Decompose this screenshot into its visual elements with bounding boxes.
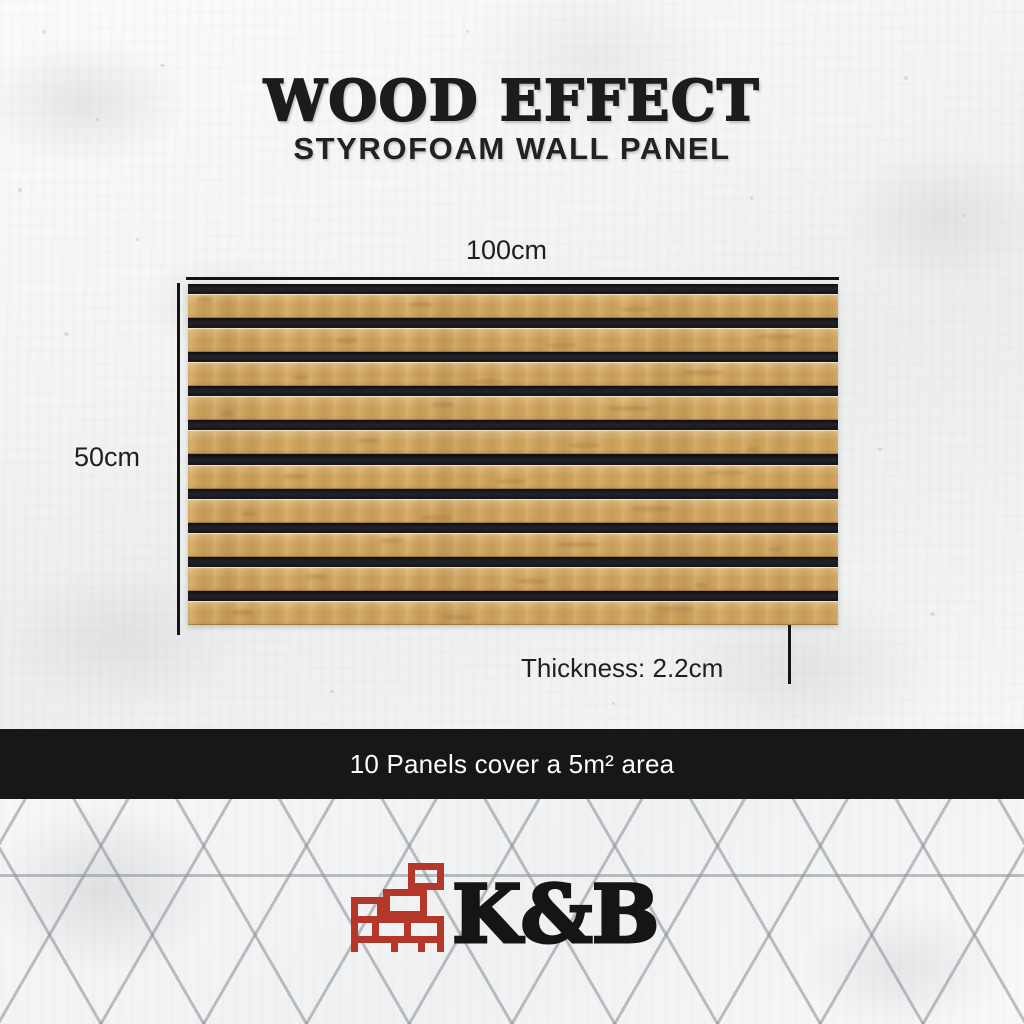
wood-grain-knot (357, 438, 380, 443)
panel-groove (188, 318, 838, 328)
page-title: WOOD EFFECT (0, 68, 1024, 134)
wood-grain-knot (620, 307, 652, 312)
brand-logo: K&B (350, 862, 658, 952)
wood-grain-knot (609, 406, 650, 411)
wood-grain-knot (231, 610, 254, 615)
wood-grain-knot (283, 474, 306, 479)
wood-grain-knot (294, 375, 308, 380)
panel-slat (188, 294, 838, 318)
width-dimension-label: 100cm (466, 235, 547, 266)
panel-groove (188, 591, 838, 601)
panel-slat (188, 465, 838, 489)
wood-grain-knot (409, 302, 432, 307)
panel-groove (188, 420, 838, 430)
wood-grain-knot (442, 615, 474, 620)
wood-grain-knot (631, 506, 672, 511)
wood-effect-panel-image (188, 284, 838, 625)
panel-groove (188, 352, 838, 362)
height-dimension-label: 50cm (74, 442, 140, 473)
wood-grain-knot (431, 402, 454, 407)
wood-grain-knot (220, 411, 234, 416)
brand-name: K&B (452, 878, 658, 952)
wood-grain-knot (420, 515, 452, 520)
panel-slat (188, 362, 838, 386)
panel-slat (188, 430, 838, 454)
wood-grain-knot (694, 583, 708, 588)
height-dimension-line (177, 283, 180, 635)
panel-slat (188, 499, 838, 523)
panel-slat (188, 328, 838, 352)
panel-groove (188, 489, 838, 499)
wood-grain-knot (653, 606, 694, 611)
wood-grain-knot (335, 338, 358, 343)
wood-grain-knot (242, 511, 256, 516)
wood-grain-knot (516, 579, 548, 584)
wood-grain-knot (705, 470, 746, 475)
coverage-banner: 10 Panels cover a 5m² area (0, 729, 1024, 799)
wood-grain-knot (379, 538, 402, 543)
wood-grain-knot (768, 547, 782, 552)
thickness-dimension-label: Thickness: 2.2cm (521, 653, 723, 684)
panel-groove (188, 386, 838, 396)
panel-groove (188, 523, 838, 533)
width-dimension-line (186, 277, 839, 280)
wood-grain-knot (198, 297, 212, 302)
wood-grain-knot (494, 479, 526, 484)
page-subtitle: STYROFOAM WALL PANEL (0, 131, 1024, 167)
panel-slat (188, 533, 838, 557)
brick-wall-icon (350, 862, 448, 952)
wood-grain-knot (568, 443, 600, 448)
wood-grain-knot (305, 574, 328, 579)
wood-grain-knot (757, 334, 798, 339)
wood-grain-knot (472, 379, 504, 384)
panel-groove (188, 557, 838, 567)
wood-grain-knot (557, 542, 598, 547)
coverage-banner-text: 10 Panels cover a 5m² area (350, 749, 675, 780)
wood-grain-knot (746, 447, 760, 452)
panel-groove (188, 284, 838, 294)
panel-slat (188, 567, 838, 591)
panel-slat (188, 396, 838, 420)
panel-groove (188, 455, 838, 465)
wood-grain-knot (546, 343, 578, 348)
panel-slat (188, 601, 838, 625)
wood-grain-knot (683, 370, 724, 375)
product-infographic: WOOD EFFECT STYROFOAM WALL PANEL 100cm 5… (0, 0, 1024, 1024)
